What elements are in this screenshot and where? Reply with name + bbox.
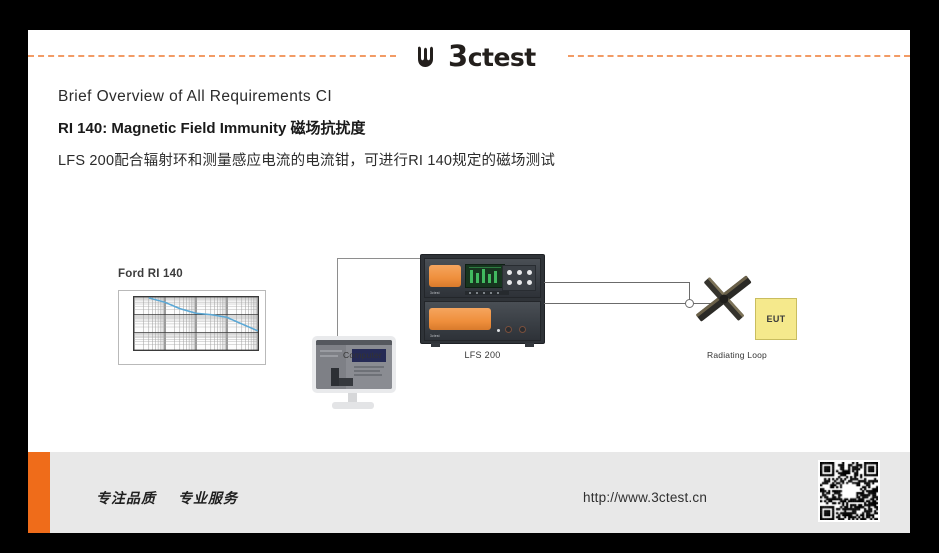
lfs200-handle-lower: [429, 308, 491, 330]
radiating-loop-illustration: [684, 266, 764, 332]
qr-canvas: [820, 462, 878, 520]
slogan-part-2: 专业服务: [178, 491, 238, 507]
slogan-part-1: 专注品质: [96, 491, 156, 507]
requirement-title: RI 140: Magnetic Field Immunity 磁场抗扰度: [58, 117, 858, 138]
chart-frame: [118, 290, 266, 365]
logo-text-three: 3: [448, 39, 468, 73]
screen-contents: [316, 340, 392, 389]
lfs200-brand-upper: 3ctest: [430, 291, 440, 295]
3ctest-wave-mark: [416, 44, 442, 68]
logo-text: 3ctest: [448, 39, 536, 73]
requirement-description: LFS 200配合辐射环和测量感应电流的电流钳，可进行RI 140规定的磁场测试: [58, 149, 858, 170]
lfs200-generator: 3ctest 3ctest: [420, 254, 545, 364]
company-slogan: 专注品质专业服务: [96, 488, 260, 508]
lfs200-foot-right: [525, 343, 534, 347]
logo-text-ctest: ctest: [468, 43, 536, 72]
ford-ri140-chart: Ford RI 140: [118, 268, 268, 378]
lfs200-brand-lower: 3ctest: [430, 334, 440, 338]
chart-title: Ford RI 140: [118, 268, 268, 280]
eut-box: EUT: [755, 298, 797, 340]
overview-title: Brief Overview of All Requirements CI: [58, 88, 858, 106]
footer-accent-bar: [28, 452, 50, 533]
lfs200-handle-left-upper: [429, 265, 461, 287]
brand-logo: 3ctest: [416, 38, 536, 74]
monitor-stand-neck: [348, 393, 357, 402]
cable-upper: [544, 282, 690, 283]
lfs200-upper-unit: 3ctest: [424, 258, 541, 298]
monitor-stand-base: [332, 402, 374, 409]
lfs200-output-connector-1[interactable]: [505, 326, 512, 333]
slide-canvas: 3ctest Brief Overview of All Requirement…: [28, 30, 910, 533]
title-block: Brief Overview of All Requirements CI RI…: [58, 88, 858, 170]
chart-limit-curve: [134, 297, 258, 350]
slide-frame: 3ctest Brief Overview of All Requirement…: [0, 0, 939, 553]
lfs200-indicator-strip-upper: [465, 291, 509, 295]
lfs200-chassis: 3ctest 3ctest: [420, 254, 545, 344]
lfs200-foot-left: [431, 343, 440, 347]
slide-footer: 专注品质专业服务 http://www.3ctest.cn: [28, 452, 910, 533]
header-divider-right: [568, 55, 910, 57]
computer-connector-horizontal: [337, 258, 423, 259]
company-url[interactable]: http://www.3ctest.cn: [583, 490, 707, 505]
monitor: [312, 336, 396, 393]
wechat-qr-code[interactable]: [818, 460, 880, 522]
lfs200-lower-unit: 3ctest: [424, 301, 541, 341]
setup-diagram: Ford RI 140: [28, 210, 910, 450]
lfs200-lcd-display: [465, 264, 505, 288]
lfs200-label: LFS 200: [420, 350, 545, 360]
chart-plot-area: [133, 296, 259, 351]
lfs200-keypad[interactable]: [502, 265, 536, 291]
radiating-loop-label: Radiating Loop: [678, 350, 796, 360]
header-divider-left: [28, 55, 396, 57]
computer-connector-vertical: [337, 258, 338, 336]
computer-label: Computer: [343, 350, 382, 360]
monitor-screen: [316, 340, 392, 389]
radiating-loop-graphic: [684, 266, 764, 332]
computer-illustration: [306, 336, 402, 418]
lfs200-output-connector-2[interactable]: [519, 326, 526, 333]
slide-header: 3ctest: [28, 30, 910, 82]
